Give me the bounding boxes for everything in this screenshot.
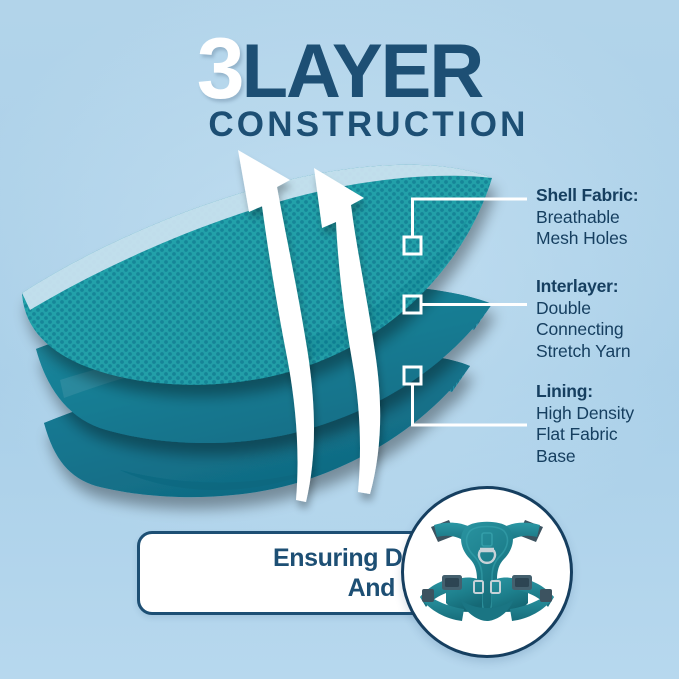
callout-lining: Lining: High Density Flat Fabric Base bbox=[536, 381, 634, 467]
callout-interlayer-line-1: Double bbox=[536, 298, 630, 319]
dog-harness-icon bbox=[404, 489, 570, 655]
callout-shell-fabric: Shell Fabric: Breathable Mesh Holes bbox=[536, 185, 638, 250]
callout-lining-title: Lining: bbox=[536, 381, 634, 402]
callout-interlayer-title: Interlayer: bbox=[536, 276, 630, 297]
callout-interlayer-line-3: Stretch Yarn bbox=[536, 341, 630, 362]
callout-lining-line-2: Flat Fabric bbox=[536, 424, 634, 445]
callout-interlayer: Interlayer: Double Connecting Stretch Ya… bbox=[536, 276, 630, 362]
callout-shell-line-2: Mesh Holes bbox=[536, 228, 638, 249]
product-photo-circle bbox=[401, 486, 573, 658]
infographic-canvas: 3 LAYER CONSTRUCTION Shell Fabric: Breat… bbox=[0, 0, 679, 679]
callout-shell-title: Shell Fabric: bbox=[536, 185, 638, 206]
callout-shell-line-1: Breathable bbox=[536, 207, 638, 228]
callout-lining-line-3: Base bbox=[536, 446, 634, 467]
callout-lining-line-1: High Density bbox=[536, 403, 634, 424]
callout-interlayer-line-2: Connecting bbox=[536, 319, 630, 340]
